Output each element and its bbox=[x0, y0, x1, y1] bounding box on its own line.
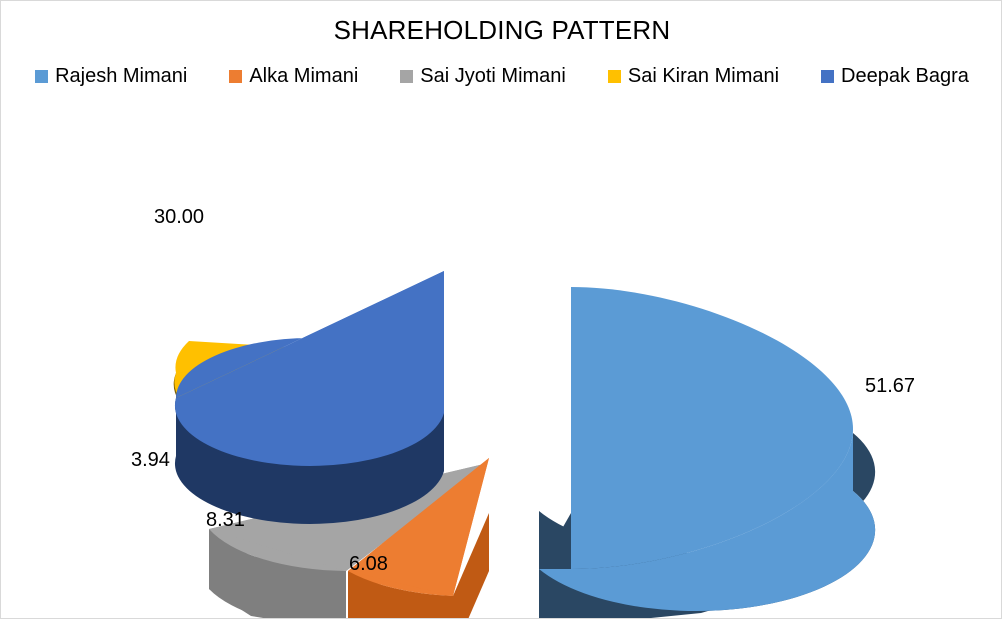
pie-slice-deepak-bagra[interactable] bbox=[175, 271, 444, 524]
data-label-sai-kiran-mimani: 3.94 bbox=[131, 449, 170, 472]
legend-swatch-icon bbox=[821, 70, 834, 83]
legend-label: Sai Jyoti Mimani bbox=[420, 65, 566, 88]
legend-label: Alka Mimani bbox=[249, 65, 358, 88]
chart-title: SHAREHOLDING PATTERN bbox=[1, 15, 1002, 46]
data-label-alka-mimani: 6.08 bbox=[349, 553, 388, 576]
legend-item-deepak-bagra[interactable]: Deepak Bagra bbox=[821, 65, 969, 88]
pie-chart-plot-area: 30.00 3.94 8.31 6.08 51.67 bbox=[1, 101, 1002, 619]
legend-label: Sai Kiran Mimani bbox=[628, 65, 779, 88]
legend-swatch-icon bbox=[608, 70, 621, 83]
legend-item-rajesh-mimani[interactable]: Rajesh Mimani bbox=[35, 65, 187, 88]
legend-label: Rajesh Mimani bbox=[55, 65, 187, 88]
data-label-rajesh-mimani: 51.67 bbox=[865, 375, 915, 398]
legend-swatch-icon bbox=[400, 70, 413, 83]
legend-swatch-icon bbox=[35, 70, 48, 83]
data-label-deepak-bagra: 30.00 bbox=[154, 206, 204, 229]
pie-slice-rajesh-mimani[interactable] bbox=[539, 287, 875, 619]
data-label-sai-jyoti-mimani: 8.31 bbox=[206, 509, 245, 532]
chart-container: SHAREHOLDING PATTERN Rajesh Mimani Alka … bbox=[0, 0, 1002, 619]
legend-swatch-icon bbox=[229, 70, 242, 83]
legend-label: Deepak Bagra bbox=[841, 65, 969, 88]
chart-legend: Rajesh Mimani Alka Mimani Sai Jyoti Mima… bbox=[1, 65, 1002, 88]
pie-3d-graphic bbox=[1, 101, 1002, 619]
legend-item-alka-mimani[interactable]: Alka Mimani bbox=[229, 65, 358, 88]
legend-item-sai-kiran-mimani[interactable]: Sai Kiran Mimani bbox=[608, 65, 779, 88]
legend-item-sai-jyoti-mimani[interactable]: Sai Jyoti Mimani bbox=[400, 65, 566, 88]
